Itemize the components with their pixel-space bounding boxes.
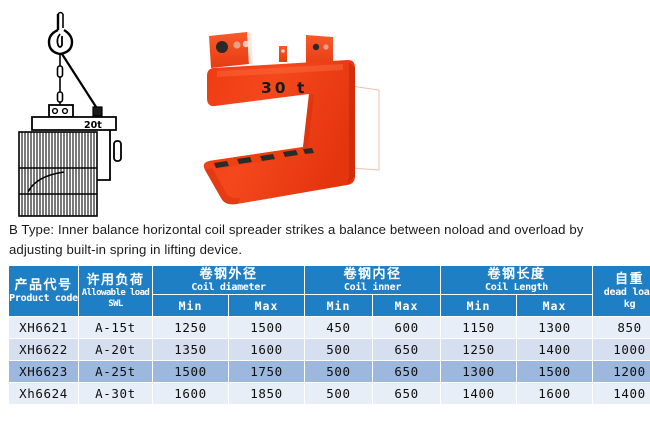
- header-coil-length-en: Coil Length: [441, 282, 592, 294]
- cell-dead-load: 1400: [593, 383, 650, 405]
- header-coil-diameter-en: Coil diameter: [153, 282, 304, 294]
- header-coil-inner: 卷钢内径 Coil inner: [305, 266, 441, 295]
- cell-coil-diameter-min: 1250: [153, 317, 229, 339]
- header-allowable-load-en2: SWL: [79, 299, 152, 310]
- cell-coil-length-min: 1300: [441, 361, 517, 383]
- header-coil-diameter-min: Min: [153, 295, 229, 317]
- cell-coil-diameter-min: 1600: [153, 383, 229, 405]
- specification-table-container: 产品代号 Product code 许用负荷 Allowable load SW…: [8, 265, 642, 405]
- c-hook-coil-spreader: 30 t: [183, 18, 413, 213]
- header-dead-load-en2: kg: [593, 299, 650, 311]
- header-coil-diameter: 卷钢外径 Coil diameter: [153, 266, 305, 295]
- cell-product-code: XH6622: [9, 339, 79, 361]
- header-coil-inner-cn: 卷钢内径: [305, 267, 440, 282]
- cell-coil-diameter-min: 1350: [153, 339, 229, 361]
- header-coil-inner-min: Min: [305, 295, 373, 317]
- cell-coil-inner-min: 500: [305, 339, 373, 361]
- header-coil-inner-en: Coil inner: [305, 282, 440, 294]
- cell-coil-length-min: 1150: [441, 317, 517, 339]
- header-coil-diameter-cn: 卷钢外径: [153, 267, 304, 282]
- cell-coil-inner-max: 650: [373, 383, 441, 405]
- header-product-code-cn: 产品代号: [9, 278, 78, 293]
- cell-coil-inner-max: 650: [373, 339, 441, 361]
- cell-coil-diameter-max: 1500: [229, 317, 305, 339]
- cell-coil-length-min: 1400: [441, 383, 517, 405]
- table-row: XH6622 A-20t 1350 1600 500 650 1250 1400…: [9, 339, 650, 361]
- header-dead-load-en: dead load: [593, 287, 650, 299]
- header-product-code-en: Product code: [9, 293, 78, 305]
- cell-coil-inner-min: 500: [305, 361, 373, 383]
- schematic-capacity-label: 20t: [84, 120, 102, 131]
- header-coil-length-max: Max: [517, 295, 593, 317]
- header-coil-length-cn: 卷钢长度: [441, 267, 592, 282]
- cell-coil-diameter-min: 1500: [153, 361, 229, 383]
- cell-coil-diameter-max: 1750: [229, 361, 305, 383]
- header-product-code: 产品代号 Product code: [9, 266, 79, 317]
- cell-allowable-load: A-30t: [79, 383, 153, 405]
- cell-coil-diameter-max: 1850: [229, 383, 305, 405]
- description-line-1: B Type: Inner balance horizontal coil sp…: [9, 220, 641, 240]
- cell-coil-length-max: 1400: [517, 339, 593, 361]
- cell-product-code: Xh6624: [9, 383, 79, 405]
- description-line-2: adjusting built-in spring in lifting dev…: [9, 240, 641, 260]
- cell-coil-diameter-max: 1600: [229, 339, 305, 361]
- table-row: Xh6624 A-30t 1600 1850 500 650 1400 1600…: [9, 383, 650, 405]
- cell-coil-inner-min: 450: [305, 317, 373, 339]
- table-header-row-1: 产品代号 Product code 许用负荷 Allowable load SW…: [9, 266, 650, 295]
- cell-coil-inner-max: 600: [373, 317, 441, 339]
- cell-coil-length-max: 1300: [517, 317, 593, 339]
- product-capacity-label: 30 t: [261, 79, 307, 97]
- header-dead-load: 自重 dead load kg: [593, 266, 650, 317]
- cell-coil-inner-min: 500: [305, 383, 373, 405]
- cell-coil-length-max: 1500: [517, 361, 593, 383]
- header-allowable-load-cn: 许用负荷: [79, 273, 152, 288]
- table-row: XH6623 A-25t 1500 1750 500 650 1300 1500…: [9, 361, 650, 383]
- header-coil-length-min: Min: [441, 295, 517, 317]
- header-coil-length: 卷钢长度 Coil Length: [441, 266, 593, 295]
- header-coil-inner-max: Max: [373, 295, 441, 317]
- cell-allowable-load: A-25t: [79, 361, 153, 383]
- table-row: XH6621 A-15t 1250 1500 450 600 1150 1300…: [9, 317, 650, 339]
- cell-coil-length-max: 1600: [517, 383, 593, 405]
- cell-coil-inner-max: 650: [373, 361, 441, 383]
- coil-lifting-schematic: 20t: [6, 10, 136, 218]
- header-allowable-load: 许用负荷 Allowable load SWL: [79, 266, 153, 317]
- cell-allowable-load: A-15t: [79, 317, 153, 339]
- cell-coil-length-min: 1250: [441, 339, 517, 361]
- specification-table: 产品代号 Product code 许用负荷 Allowable load SW…: [8, 265, 650, 405]
- product-description: B Type: Inner balance horizontal coil sp…: [9, 220, 641, 260]
- illustration-area: 20t: [0, 0, 650, 218]
- cell-allowable-load: A-20t: [79, 339, 153, 361]
- cell-dead-load: 1200: [593, 361, 650, 383]
- header-allowable-load-en: Allowable load: [79, 288, 152, 299]
- cell-product-code: XH6621: [9, 317, 79, 339]
- header-coil-diameter-max: Max: [229, 295, 305, 317]
- cell-product-code: XH6623: [9, 361, 79, 383]
- cell-dead-load: 1000: [593, 339, 650, 361]
- cell-dead-load: 850: [593, 317, 650, 339]
- header-dead-load-cn: 自重: [593, 272, 650, 287]
